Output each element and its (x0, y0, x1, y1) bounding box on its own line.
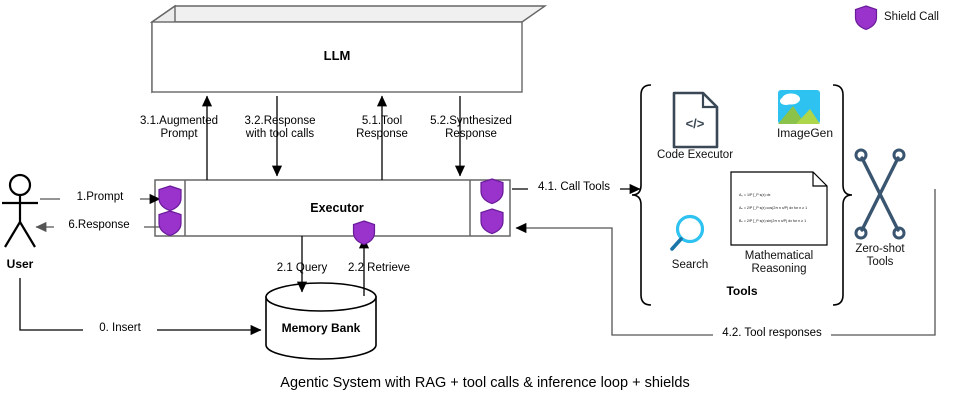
node-llm[interactable]: LLM (152, 6, 545, 92)
image-cloud-puff (780, 97, 792, 105)
code-glyph: </> (686, 116, 705, 131)
tool-icon-search[interactable] (672, 217, 703, 250)
memory-bank-label: Memory Bank (282, 321, 361, 335)
tool-label-imagegen: ImageGen (777, 126, 833, 140)
shield-executor-bottom-center[interactable] (354, 221, 375, 245)
wrench-one-tail (894, 150, 904, 160)
edge-label-call-tools: 4.1. Call Tools (528, 181, 620, 194)
user-head (10, 175, 30, 195)
tool-icon-imagegen[interactable] (778, 90, 820, 124)
tools-group-label: Tools (726, 284, 757, 298)
tool-label-zero-shot-line1: Zero-shot (855, 243, 905, 255)
tool-label-code-executor: Code Executor (657, 149, 733, 161)
tools-brace-right (833, 85, 852, 305)
wrench-two-head (894, 228, 904, 238)
wrench-one-head (856, 228, 866, 238)
tools-brace-left (632, 85, 651, 305)
tool-icon-zero-shot-tools[interactable] (856, 150, 904, 238)
edge-label-query: 2.1 Query (265, 262, 339, 275)
tool-label-search: Search (672, 259, 708, 271)
diagram-canvas: LLM Executor User Memory Bank (0, 0, 970, 411)
wrench-two-tail (856, 150, 866, 160)
tool-label-math-line1: Mathematical (745, 250, 813, 262)
diagram-caption: Agentic System with RAG + tool calls & i… (0, 375, 970, 391)
memory-bank-top (266, 283, 376, 311)
edge-label-tool-responses: 4.2. Tool responses (713, 327, 831, 340)
tool-label-zero-shot-line2: Tools (867, 256, 894, 268)
magnifier-handle (672, 239, 681, 249)
tool-icon-code-executor[interactable]: </> (674, 93, 717, 147)
node-executor[interactable]: Executor (155, 180, 510, 236)
tool-icon-math-reasoning[interactable]: A₀ = 1/P ∫_P s(x) dx Aₙ = 2/P ∫_P s(x) c… (731, 172, 827, 245)
math-line-0: A₀ = 1/P ∫_P s(x) dx (739, 193, 771, 197)
user-label: User (7, 257, 34, 271)
math-line-2: Bₙ = 2/P ∫_P s(x) sin(2π n x/P) dx for n… (739, 219, 806, 223)
edge-label-augmented-prompt: 3.1.Augmented Prompt (139, 115, 219, 141)
llm-label: LLM (324, 48, 351, 63)
user-leg-left (5, 222, 20, 247)
executor-label: Executor (310, 201, 364, 215)
edge-label-response-tool-calls: 3.2.Response with tool calls (234, 115, 326, 141)
llm-cube-top (152, 6, 545, 22)
edge-label-synthesized-response: 5.2.Synthesized Response (424, 115, 518, 141)
user-leg-right (20, 222, 35, 247)
node-memory-bank[interactable]: Memory Bank (266, 283, 376, 359)
legend-label: Shield Call (884, 11, 939, 23)
edge-label-prompt: 1.Prompt (60, 191, 140, 204)
shield-icon (354, 221, 375, 245)
node-user[interactable] (2, 175, 38, 247)
edge-label-insert: 0. Insert (83, 322, 157, 335)
edge-label-tool-response: 5.1.Tool Response (345, 115, 419, 141)
edge-label-retrieve: 2.2 Retrieve (337, 262, 421, 275)
math-line-1: Aₙ = 2/P ∫_P s(x) cos(2π n x/P) dx for n… (739, 206, 807, 210)
edge-label-response: 6.Response (54, 219, 144, 232)
legend-shield-call: Shield Call (856, 6, 939, 30)
tool-label-math-line2: Reasoning (752, 263, 807, 275)
shield-icon (856, 6, 877, 30)
